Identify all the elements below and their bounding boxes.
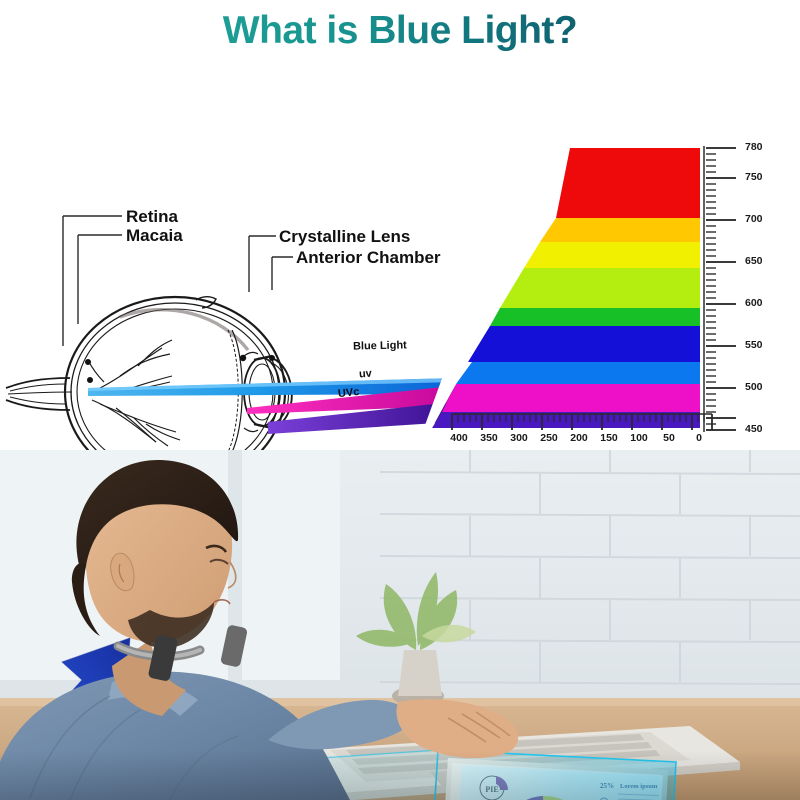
eyeball-cross-section <box>6 297 292 450</box>
page-title: What is Blue Light? <box>223 9 577 53</box>
horizontal-tick-0: 0 <box>696 432 702 444</box>
vertical-tick-450: 450 <box>745 423 763 435</box>
promo-graphic-page: What is Blue Light? <box>0 0 800 800</box>
horizontal-tick-300: 300 <box>510 432 528 444</box>
vertical-tick-780: 780 <box>745 141 763 153</box>
visible-spectrum-fan <box>424 148 700 428</box>
vertical-tick-500: 500 <box>745 381 763 393</box>
horizontal-tick-50: 50 <box>663 432 675 444</box>
photo-illustration: PIE DONE <box>0 450 800 800</box>
label-uv-ray: uv <box>359 368 373 381</box>
vertical-ruler <box>704 146 736 432</box>
label-crystalline-lens: Crystalline Lens <box>279 227 410 247</box>
label-blue-light-ray: Blue Light <box>353 339 407 352</box>
vertical-tick-550: 550 <box>745 339 763 351</box>
vertical-tick-650: 650 <box>745 255 763 267</box>
laptop-user-photo: PIE DONE <box>0 450 800 800</box>
label-macaia: Macaia <box>126 226 183 246</box>
vertical-tick-600: 600 <box>745 297 763 309</box>
horizontal-tick-200: 200 <box>570 432 588 444</box>
label-retina: Retina <box>126 207 178 227</box>
label-anterior-chamber: Anterior Chamber <box>296 248 441 268</box>
horizontal-tick-350: 350 <box>480 432 498 444</box>
vertical-tick-700: 700 <box>745 213 763 225</box>
horizontal-tick-250: 250 <box>540 432 558 444</box>
horizontal-tick-400: 400 <box>450 432 468 444</box>
vertical-tick-750: 750 <box>745 171 763 183</box>
horizontal-tick-150: 150 <box>600 432 618 444</box>
horizontal-tick-100: 100 <box>630 432 648 444</box>
blue-light-diagram: Retina Macaia Crystalline Lens Anterior … <box>0 62 800 450</box>
title-bar: What is Blue Light? <box>0 0 800 62</box>
label-uvc-ray: UVc <box>337 386 360 400</box>
